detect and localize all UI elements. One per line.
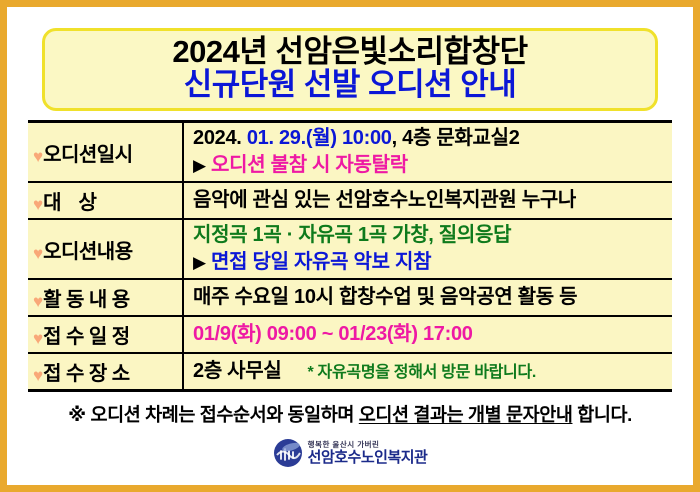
footer-note-part-1: 오디션 차례는 접수순서와 동일하며 — [91, 404, 355, 425]
label-cell-target: ♥대상 — [28, 182, 183, 219]
heart-icon: ♥ — [33, 329, 43, 348]
audition-datetime-line-2: ▶ 오디션 불참 시 자동탈락 — [193, 152, 668, 179]
label-text: 활동내용 — [43, 289, 135, 311]
label-cell-application-period: ♥접수일정 — [28, 316, 183, 353]
audition-date-time: 01. 29.(월) 10:00 — [247, 127, 392, 149]
audition-absence-warning: 오디션 불참 시 자동탈락 — [211, 154, 408, 176]
logo-name: 선암호수노인복지관 — [308, 450, 428, 465]
table-row-target: ♥대상 음악에 관심 있는 선암호수노인복지관원 누구나 — [28, 182, 672, 219]
triangle-marker-icon: ▶ — [193, 156, 206, 175]
table-row-application-period: ♥접수일정 01/9(화) 09:00 ~ 01/23(화) 17:00 — [28, 316, 672, 353]
audition-songs: 지정곡 1곡 · 자유곡 1곡 가창, 질의응답 — [193, 224, 511, 246]
activity-value: 매주 수요일 10시 합창수업 및 음악공연 활동 등 — [193, 284, 668, 311]
title-line-1: 2024년 선암은빛소리합창단 — [45, 36, 655, 69]
title-box: 2024년 선암은빛소리합창단 신규단원 선발 오디션 안내 — [42, 28, 658, 111]
label-cell-audition-datetime: ♥오디션일시 — [28, 122, 183, 183]
value-cell-application-place: 2층 사무실* 자유곡명을 정해서 방문 바랍니다. — [183, 353, 672, 391]
heart-icon: ♥ — [33, 147, 43, 166]
audition-content-line-2: ▶ 면접 당일 자유곡 악보 지참 — [193, 249, 668, 276]
application-period-value: 01/9(화) 09:00 ~ 01/23(화) 17:00 — [193, 321, 668, 348]
heart-icon: ♥ — [33, 195, 43, 214]
label-text-target-b: 상 — [79, 192, 97, 214]
target-value: 음악에 관심 있는 선암호수노인복지관원 누구나 — [193, 187, 668, 214]
logo-text-block: 행복한 울산시 가버린 선암호수노인복지관 — [308, 441, 428, 465]
label-text: 오디션일시 — [43, 144, 133, 166]
info-table: ♥오디션일시 2024. 01. 29.(월) 10:00, 4층 문화교실2 … — [28, 120, 672, 392]
audition-content-line-1: 지정곡 1곡 · 자유곡 1곡 가창, 질의응답 — [193, 222, 668, 249]
poster-root: 2024년 선암은빛소리합창단 신규단원 선발 오디션 안내 ♥오디션일시 20… — [0, 0, 700, 492]
application-period-range: 01/9(화) 09:00 ~ 01/23(화) 17:00 — [193, 323, 473, 345]
triangle-marker-icon: ▶ — [193, 253, 206, 272]
circle-emblem-icon — [273, 438, 303, 468]
label-cell-audition-content: ♥오디션내용 — [28, 219, 183, 279]
application-place-value: 2층 사무실* 자유곡명을 정해서 방문 바랍니다. — [193, 358, 668, 385]
value-cell-audition-content: 지정곡 1곡 · 자유곡 1곡 가창, 질의응답 ▶ 면접 당일 자유곡 악보 … — [183, 219, 672, 279]
poster-inner: 2024년 선암은빛소리합창단 신규단원 선발 오디션 안내 ♥오디션일시 20… — [14, 14, 686, 478]
audition-year: 2024. — [193, 127, 242, 149]
audition-datetime-line-1: 2024. 01. 29.(월) 10:00, 4층 문화교실2 — [193, 125, 668, 152]
label-cell-activity: ♥활동내용 — [28, 279, 183, 316]
value-cell-activity: 매주 수요일 10시 합창수업 및 음악공연 활동 등 — [183, 279, 672, 316]
heart-icon: ♥ — [33, 244, 43, 263]
label-text: 접수일정 — [43, 326, 135, 348]
value-cell-target: 음악에 관심 있는 선암호수노인복지관원 누구나 — [183, 182, 672, 219]
label-text: 접수장소 — [43, 363, 135, 385]
title-line-2: 신규단원 선발 오디션 안내 — [45, 69, 655, 102]
audition-sheet-music-note: 면접 당일 자유곡 악보 지참 — [211, 251, 431, 273]
table-row-application-place: ♥접수장소 2층 사무실* 자유곡명을 정해서 방문 바랍니다. — [28, 353, 672, 391]
table-row-audition-content: ♥오디션내용 지정곡 1곡 · 자유곡 1곡 가창, 질의응답 ▶ 면접 당일 … — [28, 219, 672, 279]
audition-place: , 4층 문화교실2 — [392, 127, 520, 149]
footer-note: ※ 오디션 차례는 접수순서와 동일하며 오디션 결과는 개별 문자안내 합니다… — [28, 401, 672, 427]
heart-icon: ♥ — [33, 366, 43, 385]
footer-note-underlined: 오디션 결과는 개별 문자안내 — [359, 404, 573, 425]
value-cell-application-period: 01/9(화) 09:00 ~ 01/23(화) 17:00 — [183, 316, 672, 353]
application-place-office: 2층 사무실 — [193, 360, 281, 382]
value-cell-audition-datetime: 2024. 01. 29.(월) 10:00, 4층 문화교실2 ▶ 오디션 불… — [183, 122, 672, 183]
label-cell-application-place: ♥접수장소 — [28, 353, 183, 391]
logo-sub-text: 행복한 울산시 가버린 — [308, 441, 380, 449]
table-row-audition-datetime: ♥오디션일시 2024. 01. 29.(월) 10:00, 4층 문화교실2 … — [28, 122, 672, 183]
organization-logo: 행복한 울산시 가버린 선암호수노인복지관 — [28, 438, 672, 468]
heart-icon: ♥ — [33, 292, 43, 311]
footer-note-part-2: 합니다. — [577, 404, 632, 425]
label-text-target-a: 대 — [43, 192, 78, 214]
table-row-activity: ♥활동내용 매주 수요일 10시 합창수업 및 음악공연 활동 등 — [28, 279, 672, 316]
footer-mark-icon: ※ — [68, 404, 86, 425]
label-text: 오디션내용 — [43, 241, 133, 263]
application-place-note: * 자유곡명을 정해서 방문 바랍니다. — [307, 364, 536, 381]
